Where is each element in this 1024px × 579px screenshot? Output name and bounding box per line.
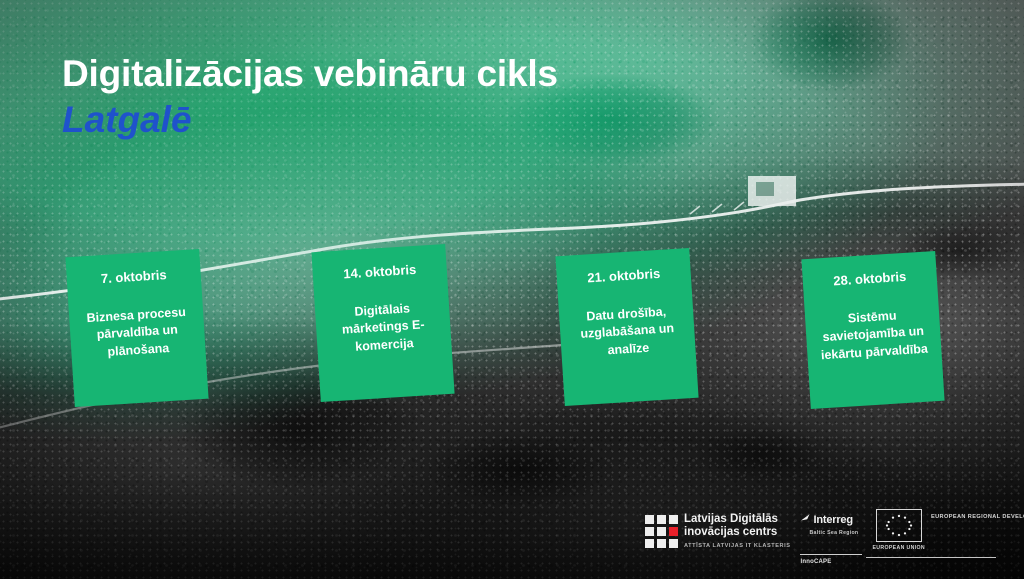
poster-headline: Digitalizācijas vebināru cikls Latgalē (62, 52, 558, 141)
eu-flag-icon (876, 509, 922, 542)
interreg-project-name: InnoCAPE (800, 559, 862, 565)
session-card[interactable]: 28. oktobris Sistēmu savietojamība un ie… (801, 251, 944, 409)
webinar-poster: Digitalizācijas vebināru cikls Latgalē 7… (0, 0, 1024, 579)
ldic-grid-cell (657, 515, 666, 524)
ldic-grid-cell-accent (669, 527, 678, 536)
footer-divider (800, 554, 862, 555)
ldic-grid-cell (669, 515, 678, 524)
page-subtitle-accent: Latgalē (62, 98, 558, 142)
ldic-wordmark: Latvijas Digitālās inovācijas centrs ATT… (684, 513, 790, 549)
ldic-name-line-1: Latvijas Digitālās (684, 513, 790, 526)
footer-divider (866, 557, 996, 558)
session-topic: Digitālais mārketings E-komercija (323, 298, 444, 359)
ldic-grid-cell (657, 527, 666, 536)
session-topic: Sistēmu savietojamība un iekārtu pārvald… (813, 305, 934, 366)
session-card[interactable]: 21. oktobris Datu drošība, uzglabāšana u… (555, 248, 698, 406)
session-card[interactable]: 7. oktobris Biznesa procesu pārvaldība u… (65, 249, 208, 407)
interreg-arrow-icon (800, 511, 811, 529)
ldic-grid-cell (669, 539, 678, 548)
eu-logo: EUROPEAN UNION EUROPEAN REGIONAL DEVELOP… (872, 505, 1024, 558)
ldic-logo: Latvijas Digitālās inovācijas centrs ATT… (645, 505, 790, 549)
ldic-grid-cell (645, 515, 654, 524)
eu-fund-label: EUROPEAN REGIONAL DEVELOPMENT FUND (931, 513, 1024, 522)
page-title: Digitalizācijas vebināru cikls (62, 52, 558, 96)
ldic-grid-cell (645, 539, 654, 548)
session-date: 28. oktobris (833, 269, 907, 289)
session-topic: Biznesa procesu pārvaldība un plānošana (77, 303, 198, 364)
session-date: 7. oktobris (100, 267, 167, 287)
session-card[interactable]: 14. oktobris Digitālais mārketings E-kom… (311, 244, 454, 402)
interreg-subtitle: Baltic Sea Region (809, 530, 862, 536)
footer-logo-strip: Latvijas Digitālās inovācijas centrs ATT… (645, 505, 1024, 571)
session-date: 21. oktobris (587, 266, 661, 286)
eu-logo-row: EUROPEAN UNION EUROPEAN REGIONAL DEVELOP… (872, 509, 1024, 551)
interreg-logo: Interreg Baltic Sea Region InnoCAPE (800, 505, 862, 565)
ldic-grid-icon (645, 515, 678, 548)
interreg-wordmark: Interreg (800, 511, 862, 529)
ldic-name-line-2: inovācijas centrs (684, 526, 790, 539)
eu-union-label: EUROPEAN UNION (872, 545, 924, 551)
ldic-grid-cell (657, 539, 666, 548)
ldic-grid-cell (645, 527, 654, 536)
session-topic: Datu drošība, uzglabāšana un analīze (567, 302, 688, 363)
ldic-tagline: ATTĪSTA LATVIJAS IT KLASTERIS (684, 543, 790, 549)
interreg-name: Interreg (813, 514, 852, 526)
eu-flag-block: EUROPEAN UNION (872, 509, 924, 551)
session-date: 14. oktobris (343, 262, 417, 282)
